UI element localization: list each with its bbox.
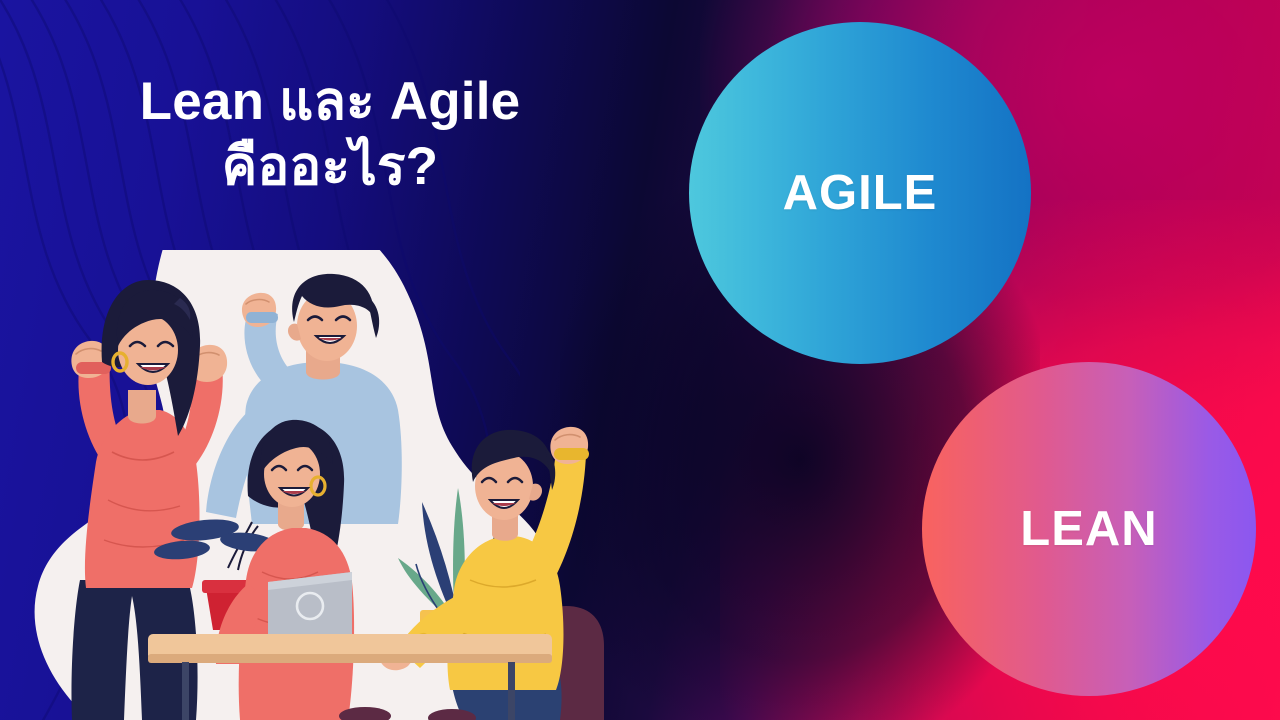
page-title: Lean และ Agile คืออะไร? (0, 72, 660, 197)
agile-label: AGILE (783, 169, 938, 218)
agile-circle-badge[interactable]: AGILE (689, 22, 1031, 364)
slide-canvas: Lean และ Agile คืออะไร? AGILE LEAN (0, 0, 1280, 720)
lean-circle-badge[interactable]: LEAN (922, 362, 1256, 696)
laptop (258, 572, 368, 644)
title-line-2: คืออะไร? (0, 137, 660, 196)
lean-label: LEAN (1020, 505, 1157, 554)
title-line-1: Lean และ Agile (0, 72, 660, 131)
team-celebration-illustration (0, 250, 660, 720)
